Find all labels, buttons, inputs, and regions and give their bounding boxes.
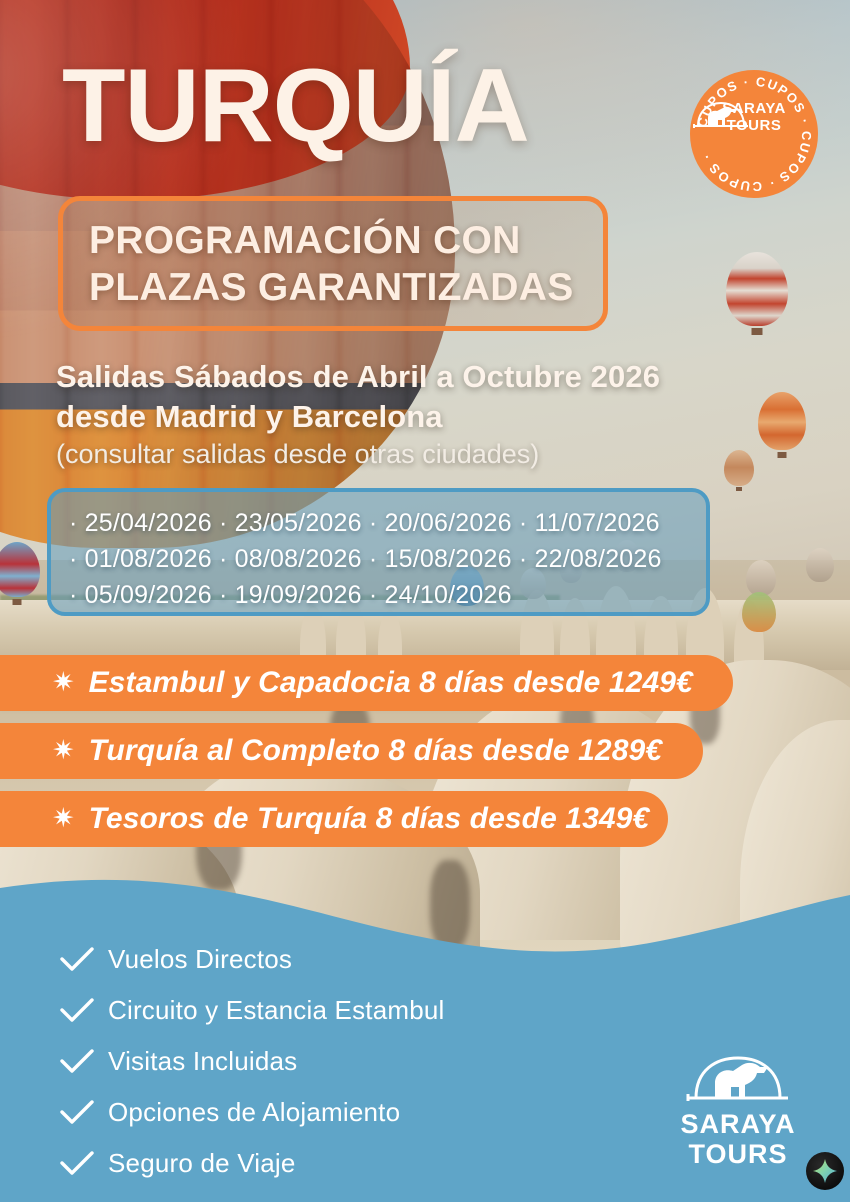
check-icon bbox=[60, 1151, 108, 1177]
camel-arch-icon bbox=[682, 1053, 794, 1105]
offer-banner-1[interactable]: ✷ Estambul y Capadocia 8 días desde 1249… bbox=[0, 655, 733, 711]
headline-line-1: PROGRAMACIÓN CON bbox=[89, 217, 574, 264]
camel-arch-icon bbox=[690, 100, 752, 130]
departures-line-1: Salidas Sábados de Abril a Octubre 2026 bbox=[56, 357, 796, 397]
cupos-ring-text: CUPOS · CUPOS · CUPOS · CUPOS · bbox=[690, 70, 818, 198]
brand-line-1: SARAYA bbox=[668, 1109, 808, 1139]
feature-item: Vuelos Directos bbox=[60, 938, 620, 981]
cupos-stamp-inner: SARAYA TOURS bbox=[690, 100, 818, 134]
feature-item: Opciones de Alojamiento bbox=[60, 1091, 620, 1134]
sparkle-icon: ✷ bbox=[52, 805, 75, 832]
departures-heading: Salidas Sábados de Abril a Octubre 2026 … bbox=[56, 357, 796, 437]
sparkle-icon: ✷ bbox=[52, 669, 75, 696]
svg-text:CUPOS · CUPOS · CUPOS · CUPOS: CUPOS · CUPOS · CUPOS · CUPOS · bbox=[694, 74, 814, 194]
departures-note: (consultar salidas desde otras ciudades) bbox=[56, 438, 796, 471]
feature-label: Vuelos Directos bbox=[108, 944, 292, 975]
offer-text-3: Tesoros de Turquía 8 días desde 1349€ bbox=[89, 802, 650, 836]
check-icon bbox=[60, 998, 108, 1024]
check-icon bbox=[60, 1100, 108, 1126]
features-list: Vuelos Directos Circuito y Estancia Esta… bbox=[60, 938, 620, 1193]
feature-item: Seguro de Viaje bbox=[60, 1142, 620, 1185]
brand-logo: SARAYA TOURS bbox=[668, 1053, 808, 1169]
headline-box: PROGRAMACIÓN CON PLAZAS GARANTIZADAS bbox=[58, 196, 608, 331]
travel-poster: TURQUÍA CUPOS · CUPOS · CUPOS · CUPOS · … bbox=[0, 0, 850, 1202]
feature-label: Circuito y Estancia Estambul bbox=[108, 995, 445, 1026]
dates-row: · 05/09/2026 · 19/09/2026 · 24/10/2026 bbox=[69, 577, 706, 613]
four-point-star-icon bbox=[806, 1152, 844, 1190]
feature-item: Visitas Incluidas bbox=[60, 1040, 620, 1083]
sparkle-icon: ✷ bbox=[52, 737, 75, 764]
feature-label: Seguro de Viaje bbox=[108, 1148, 296, 1179]
offer-banner-2[interactable]: ✷ Turquía al Completo 8 días desde 1289€ bbox=[0, 723, 703, 779]
feature-label: Visitas Incluidas bbox=[108, 1046, 297, 1077]
offer-banner-3[interactable]: ✷ Tesoros de Turquía 8 días desde 1349€ bbox=[0, 791, 668, 847]
departures-line-2: desde Madrid y Barcelona bbox=[56, 397, 796, 437]
feature-label: Opciones de Alojamiento bbox=[108, 1097, 400, 1128]
poster-content: TURQUÍA CUPOS · CUPOS · CUPOS · CUPOS · … bbox=[0, 0, 850, 1202]
dates-row: · 25/04/2026 · 23/05/2026 · 20/06/2026 ·… bbox=[69, 505, 706, 541]
headline-text: PROGRAMACIÓN CON PLAZAS GARANTIZADAS bbox=[63, 217, 574, 311]
departure-dates-box: · 25/04/2026 · 23/05/2026 · 20/06/2026 ·… bbox=[47, 488, 710, 616]
dates-row: · 01/08/2026 · 08/08/2026 · 15/08/2026 ·… bbox=[69, 541, 706, 577]
watermark-badge[interactable] bbox=[806, 1152, 844, 1190]
feature-item: Circuito y Estancia Estambul bbox=[60, 989, 620, 1032]
offer-text-2: Turquía al Completo 8 días desde 1289€ bbox=[89, 734, 662, 768]
headline-line-2: PLAZAS GARANTIZADAS bbox=[89, 264, 574, 311]
page-title: TURQUÍA bbox=[62, 54, 529, 158]
offer-text-1: Estambul y Capadocia 8 días desde 1249€ bbox=[89, 666, 693, 700]
cupos-stamp-badge: CUPOS · CUPOS · CUPOS · CUPOS · SARAYA T… bbox=[690, 70, 818, 198]
check-icon bbox=[60, 1049, 108, 1075]
brand-line-2: TOURS bbox=[668, 1139, 808, 1169]
check-icon bbox=[60, 947, 108, 973]
